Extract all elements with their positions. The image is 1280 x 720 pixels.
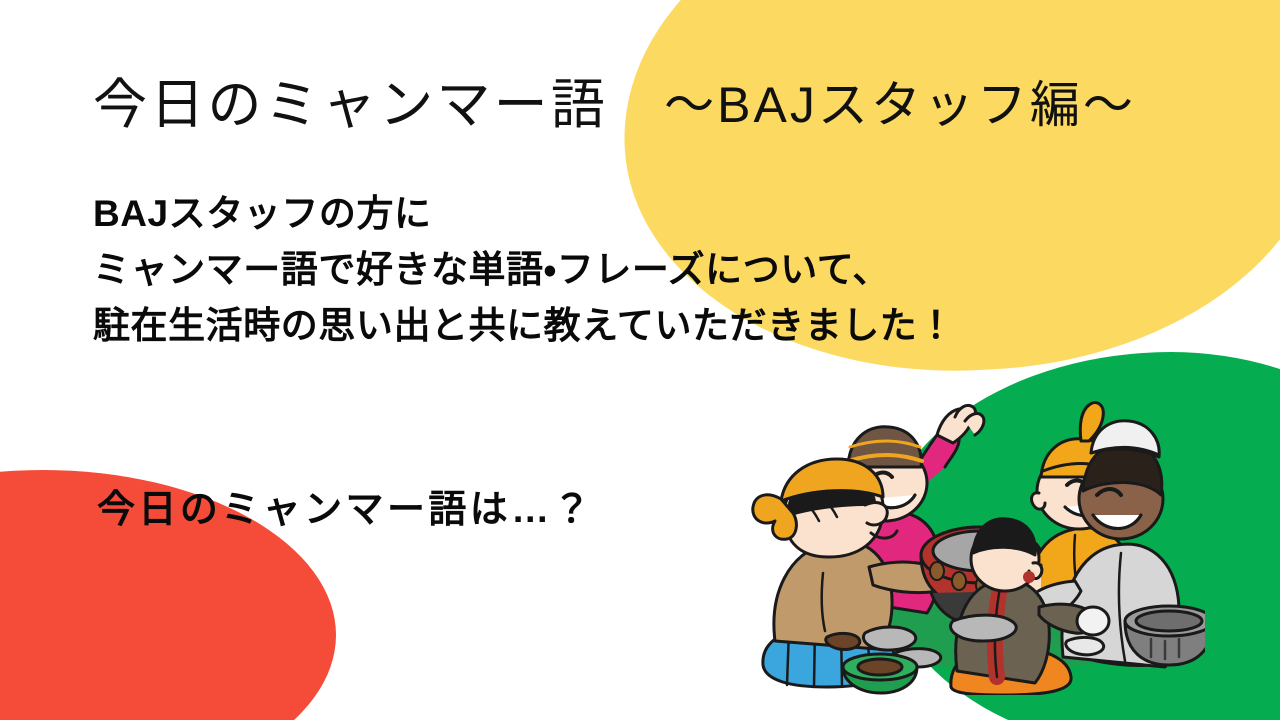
body-line-3: 駐在生活時の思い出と共に教えていただきました！	[93, 298, 1153, 354]
body-paragraph: BAJスタッフの方に ミャンマー語で好きな単語・フレーズについて、 駐在生活時の…	[93, 186, 1153, 355]
body-line-2: ミャンマー語で好きな単語・フレーズについて、	[93, 242, 1153, 298]
people-sharing-meal-illustration	[745, 395, 1205, 695]
title-sub-text: 〜BAJスタッフ編〜	[664, 80, 1136, 130]
title-main-text: 今日のミャンマー語	[93, 78, 608, 132]
slide-title: 今日のミャンマー語 〜BAJスタッフ編〜	[0, 60, 1280, 150]
slide-canvas: 今日のミャンマー語 〜BAJスタッフ編〜 BAJスタッフの方に ミャンマー語で好…	[0, 0, 1280, 720]
body-line-1: BAJスタッフの方に	[93, 186, 1153, 242]
question-text: 今日のミャンマー語は…？	[97, 488, 594, 534]
